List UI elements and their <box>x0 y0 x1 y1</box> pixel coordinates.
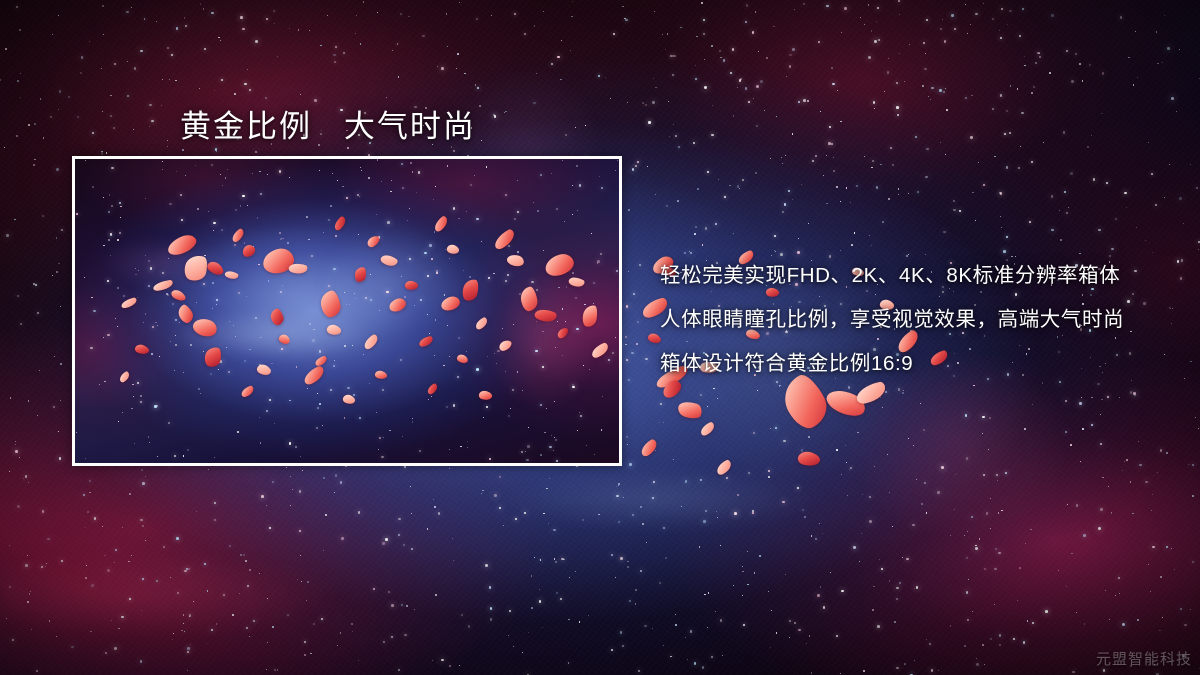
star <box>398 669 401 672</box>
star <box>1145 481 1148 484</box>
star <box>982 433 983 434</box>
star <box>346 197 348 199</box>
star <box>449 356 450 357</box>
star <box>89 41 90 42</box>
star <box>184 631 186 633</box>
rose-petal <box>714 459 733 476</box>
star <box>1102 72 1104 74</box>
star <box>702 244 704 246</box>
star <box>281 348 283 350</box>
star <box>1033 86 1035 88</box>
star <box>27 601 29 603</box>
star <box>850 467 852 469</box>
star <box>459 2 460 3</box>
star <box>844 7 847 10</box>
star <box>1184 624 1187 627</box>
star <box>673 124 674 125</box>
star <box>575 127 576 128</box>
star <box>576 165 578 167</box>
star <box>562 160 563 161</box>
star <box>1145 240 1146 241</box>
star <box>253 620 255 622</box>
star <box>204 48 207 51</box>
star <box>514 218 516 220</box>
star <box>175 319 177 321</box>
star <box>857 432 859 434</box>
star <box>781 157 782 158</box>
star <box>1017 600 1018 601</box>
star <box>358 234 359 235</box>
star <box>774 250 775 251</box>
star <box>85 160 86 161</box>
star <box>27 555 28 556</box>
star <box>756 125 759 128</box>
star <box>673 459 675 461</box>
star <box>35 284 37 286</box>
star <box>103 337 104 338</box>
star <box>187 670 188 671</box>
star <box>126 11 129 14</box>
star <box>560 598 562 600</box>
star <box>220 174 221 175</box>
star <box>1136 227 1137 228</box>
star <box>274 423 275 424</box>
star <box>1100 508 1102 510</box>
star <box>611 554 613 556</box>
star <box>443 365 445 367</box>
star <box>917 191 919 193</box>
star <box>611 649 613 651</box>
star <box>786 76 787 77</box>
star <box>376 412 377 413</box>
star <box>724 196 726 198</box>
star <box>966 591 969 594</box>
star <box>257 217 258 218</box>
star <box>102 5 104 7</box>
star <box>615 577 616 578</box>
star <box>798 629 800 631</box>
star <box>653 482 654 483</box>
star <box>499 476 502 479</box>
star <box>829 126 831 128</box>
star <box>159 356 160 357</box>
star <box>564 221 566 223</box>
star <box>127 61 128 62</box>
star <box>25 564 28 567</box>
star <box>30 591 31 592</box>
star <box>140 519 142 521</box>
star <box>267 642 269 644</box>
star <box>434 506 436 508</box>
star <box>618 521 620 523</box>
star <box>431 396 432 397</box>
star <box>626 305 629 308</box>
star <box>665 557 667 559</box>
star <box>1080 461 1081 462</box>
star <box>700 394 702 396</box>
star <box>954 28 956 30</box>
star <box>732 48 734 50</box>
star <box>1166 452 1168 454</box>
star <box>560 79 562 81</box>
star <box>110 95 112 97</box>
star <box>599 176 600 177</box>
star <box>156 405 158 407</box>
star <box>703 520 706 523</box>
star <box>376 214 377 215</box>
star <box>874 466 876 468</box>
star <box>815 155 818 158</box>
star <box>903 390 905 392</box>
star <box>644 625 647 628</box>
star <box>111 620 112 621</box>
star <box>19 29 21 31</box>
star <box>1157 472 1158 473</box>
star <box>169 203 171 205</box>
star <box>453 404 456 407</box>
star <box>705 510 707 512</box>
star <box>766 57 768 59</box>
star <box>752 512 754 514</box>
star <box>344 292 345 293</box>
star <box>185 175 186 176</box>
star <box>924 68 927 71</box>
star <box>246 627 248 629</box>
star <box>1037 52 1040 55</box>
star <box>459 665 460 666</box>
presentation-slide: 黄金比例 大气时尚 轻松完美实现FHD、2K、4K、8K标准分辨率箱体 人体眼睛… <box>0 0 1200 675</box>
star <box>998 512 1000 514</box>
star <box>323 550 324 551</box>
star <box>1128 57 1129 58</box>
star <box>404 466 407 469</box>
star <box>833 157 834 158</box>
star <box>148 436 150 438</box>
star <box>132 384 134 386</box>
star <box>1190 609 1191 610</box>
star <box>1100 414 1102 416</box>
star <box>310 653 311 654</box>
star <box>114 562 115 563</box>
star <box>409 258 411 260</box>
star <box>499 507 502 510</box>
star <box>970 136 973 139</box>
star <box>486 166 487 167</box>
star <box>894 621 896 623</box>
star <box>184 17 185 18</box>
star <box>50 116 53 119</box>
star <box>156 580 158 582</box>
star <box>1126 207 1127 208</box>
star <box>593 282 595 284</box>
star <box>378 449 379 450</box>
star <box>266 669 267 670</box>
star <box>652 101 655 104</box>
star <box>517 251 519 253</box>
star <box>42 215 44 217</box>
star <box>863 670 865 672</box>
star <box>756 85 759 88</box>
star <box>1139 464 1142 467</box>
star <box>999 634 1002 637</box>
star <box>613 33 615 35</box>
star <box>179 322 180 323</box>
star <box>460 446 461 447</box>
star <box>923 429 925 431</box>
star <box>515 518 517 520</box>
star <box>602 396 603 397</box>
star <box>840 673 842 675</box>
star <box>266 18 268 20</box>
star <box>240 205 242 207</box>
star <box>330 205 332 207</box>
star <box>753 432 755 434</box>
star <box>675 624 677 626</box>
star <box>768 470 770 472</box>
star <box>589 369 590 370</box>
star <box>576 328 579 331</box>
star <box>926 639 927 640</box>
star <box>845 445 846 446</box>
star <box>575 297 577 299</box>
star <box>34 159 35 160</box>
star <box>1132 513 1133 514</box>
star <box>971 95 972 96</box>
star <box>1133 84 1135 86</box>
star <box>289 177 290 178</box>
star <box>1130 391 1133 394</box>
star <box>773 26 775 28</box>
star <box>822 533 823 534</box>
star <box>114 647 117 650</box>
star <box>737 494 739 496</box>
star <box>402 187 404 189</box>
star <box>840 201 841 202</box>
star <box>16 6 18 8</box>
star <box>820 586 822 588</box>
star <box>1115 595 1116 596</box>
star <box>216 304 217 305</box>
star <box>41 566 43 568</box>
star <box>497 350 499 352</box>
star <box>28 482 30 484</box>
star <box>400 13 402 15</box>
star <box>884 91 885 92</box>
star <box>871 245 872 246</box>
star <box>203 8 205 10</box>
star <box>1082 428 1083 429</box>
star <box>868 4 870 6</box>
star <box>386 291 389 294</box>
star <box>508 635 509 636</box>
star <box>898 388 900 390</box>
star <box>1150 591 1151 592</box>
star <box>689 251 690 252</box>
star <box>645 358 648 361</box>
star <box>670 656 672 658</box>
star <box>877 625 880 628</box>
star <box>170 341 171 342</box>
star <box>1091 424 1093 426</box>
star <box>176 171 177 172</box>
star <box>89 492 90 493</box>
star <box>608 359 610 361</box>
star <box>274 23 275 24</box>
star <box>752 31 755 34</box>
star <box>1101 113 1103 115</box>
star <box>221 229 224 232</box>
star <box>434 231 435 232</box>
star <box>208 211 209 212</box>
star <box>508 245 510 247</box>
star <box>487 356 489 358</box>
star <box>593 303 594 304</box>
star <box>1087 146 1089 148</box>
star <box>170 577 171 578</box>
star <box>617 160 619 162</box>
star <box>730 72 732 74</box>
star <box>792 199 793 200</box>
star <box>113 127 115 129</box>
star <box>807 100 809 102</box>
star <box>47 538 50 541</box>
star <box>970 24 971 25</box>
star <box>672 74 674 76</box>
star <box>912 524 914 526</box>
star <box>232 614 234 616</box>
star <box>579 412 580 413</box>
star <box>892 526 893 527</box>
star <box>517 371 519 373</box>
star <box>340 481 343 484</box>
star <box>841 474 842 475</box>
star <box>108 211 110 213</box>
star <box>344 345 346 347</box>
star <box>46 563 47 564</box>
star <box>743 624 745 626</box>
star <box>76 432 77 433</box>
star <box>181 219 183 221</box>
star <box>695 226 698 229</box>
star <box>625 336 627 338</box>
star <box>489 458 492 461</box>
star <box>177 592 179 594</box>
star <box>527 445 530 448</box>
star <box>438 512 441 515</box>
star <box>986 512 989 515</box>
star <box>880 164 881 165</box>
star <box>449 258 450 259</box>
star <box>101 68 102 69</box>
star <box>694 662 697 665</box>
star <box>404 296 406 298</box>
star <box>554 401 555 402</box>
star <box>337 645 338 646</box>
star <box>1107 396 1109 398</box>
star <box>216 151 217 152</box>
star <box>140 660 143 663</box>
star <box>579 184 581 186</box>
star <box>282 285 283 286</box>
star <box>15 444 16 445</box>
star <box>1021 112 1024 115</box>
star <box>1019 567 1021 569</box>
star <box>747 551 748 552</box>
star <box>386 97 387 98</box>
star <box>528 632 530 634</box>
star <box>289 442 292 445</box>
star <box>140 50 143 53</box>
star <box>996 474 998 476</box>
star <box>826 155 827 156</box>
star <box>1137 619 1139 621</box>
star <box>1070 444 1072 446</box>
star <box>183 623 184 624</box>
star <box>467 447 468 448</box>
star <box>272 481 274 483</box>
star <box>930 99 931 100</box>
star <box>874 108 875 109</box>
star <box>151 120 153 122</box>
star <box>33 283 35 285</box>
star <box>145 540 146 541</box>
star <box>554 558 556 560</box>
star <box>1064 191 1066 193</box>
rose-petal <box>699 421 717 436</box>
star <box>419 450 421 452</box>
star <box>860 17 861 18</box>
star <box>214 457 215 458</box>
star <box>889 580 891 582</box>
star <box>926 19 928 21</box>
star <box>469 276 471 278</box>
star <box>792 133 794 135</box>
star <box>629 463 632 466</box>
star <box>811 535 812 536</box>
star <box>307 388 308 389</box>
star <box>491 15 492 16</box>
star <box>107 569 110 572</box>
star <box>327 15 328 16</box>
star <box>387 221 390 224</box>
star <box>255 40 258 43</box>
star <box>1100 443 1103 446</box>
star <box>923 42 925 44</box>
star <box>951 14 954 17</box>
star <box>171 54 173 56</box>
star <box>435 186 436 187</box>
star <box>846 462 847 463</box>
star <box>249 569 251 571</box>
star <box>239 593 240 594</box>
star <box>105 652 107 654</box>
star <box>133 129 135 131</box>
star <box>888 198 890 200</box>
star <box>168 422 170 424</box>
star <box>503 525 504 526</box>
star <box>896 667 899 670</box>
star <box>123 295 125 297</box>
star <box>410 162 412 164</box>
star <box>137 297 138 298</box>
star <box>1024 65 1026 67</box>
star <box>111 167 114 170</box>
star <box>237 431 239 433</box>
star <box>277 56 278 57</box>
star <box>915 136 917 138</box>
star <box>308 239 310 241</box>
star <box>627 561 628 562</box>
